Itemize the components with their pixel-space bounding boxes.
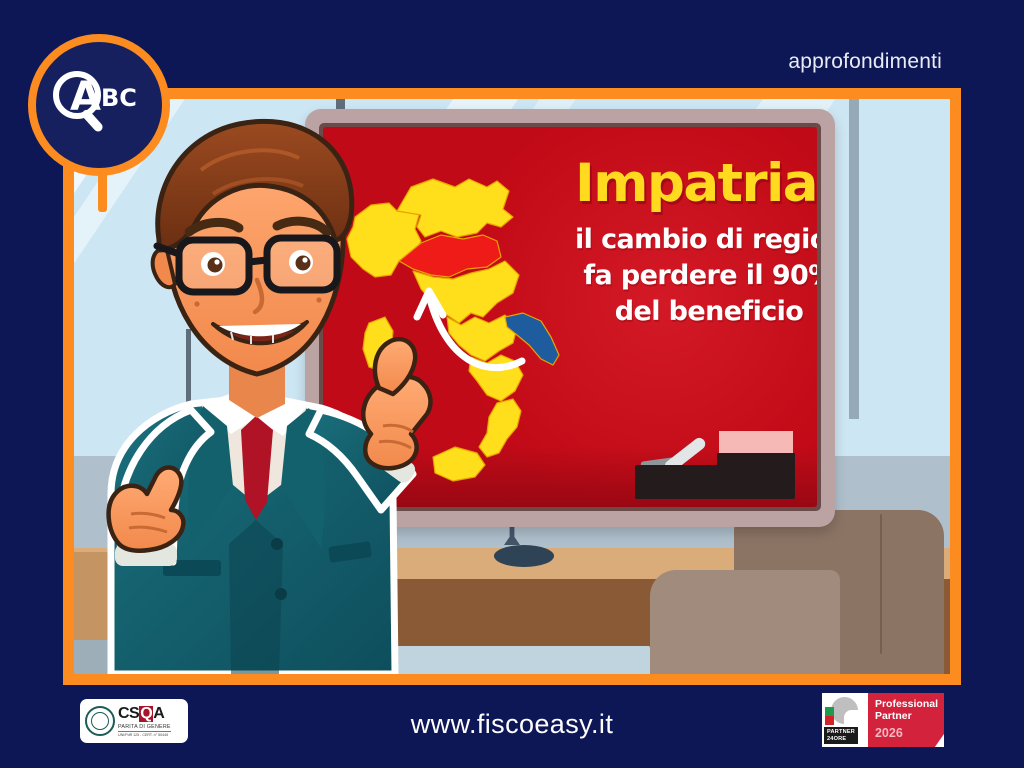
partner-24ore-label: PARTNER 24ORE xyxy=(824,727,858,744)
partner-square-red-icon xyxy=(825,716,834,725)
board-subtitle-line-2: fa perdere il 90% xyxy=(575,258,817,294)
partner-year: 2026 xyxy=(875,726,938,740)
board-marker-tray xyxy=(635,465,795,499)
footer: CSQA PARITA DI GENERE UNI/PdR 125 - CERT… xyxy=(0,685,1024,768)
presenter-head xyxy=(153,121,352,418)
region-calabria xyxy=(479,399,521,457)
board-subtitle-line-1: il cambio di regione xyxy=(575,222,817,258)
partner-label-line-2: 24ORE xyxy=(827,736,855,742)
board-title: Impatriati xyxy=(575,157,817,210)
professional-partner-badge: PARTNER 24ORE Professional Partner 2026 xyxy=(822,693,944,747)
partner-circle-icon xyxy=(831,697,858,724)
board-eraser-icon xyxy=(719,431,793,455)
window-mullion xyxy=(849,99,859,419)
illustration-frame: Impatriati il cambio di regione fa perde… xyxy=(63,88,961,685)
partner-label-line-1: PARTNER xyxy=(827,729,855,735)
partner-title-line-2: Partner xyxy=(875,711,938,723)
abc-magnifier-icon: A BC xyxy=(47,66,151,144)
header-label: approfondimenti xyxy=(788,50,942,74)
partner-square-green-icon xyxy=(825,707,834,716)
office-chair-seat xyxy=(650,570,840,674)
abc-logo-badge: A BC xyxy=(28,34,170,176)
office-chair-seam xyxy=(880,514,882,654)
illustration-photo: Impatriati il cambio di regione fa perde… xyxy=(74,99,950,674)
presenter-character-svg xyxy=(74,99,441,674)
board-text-block: Impatriati il cambio di regione fa perde… xyxy=(575,157,817,330)
board-subtitle: il cambio di regione fa perdere il 90% d… xyxy=(575,222,817,330)
presenter-character xyxy=(74,99,441,674)
partner-24ore-mark: PARTNER 24ORE xyxy=(822,693,868,747)
svg-text:A: A xyxy=(70,74,101,120)
svg-text:BC: BC xyxy=(101,84,137,112)
partner-title-block: Professional Partner 2026 xyxy=(868,693,944,747)
board-subtitle-line-3: del beneficio xyxy=(575,294,817,330)
